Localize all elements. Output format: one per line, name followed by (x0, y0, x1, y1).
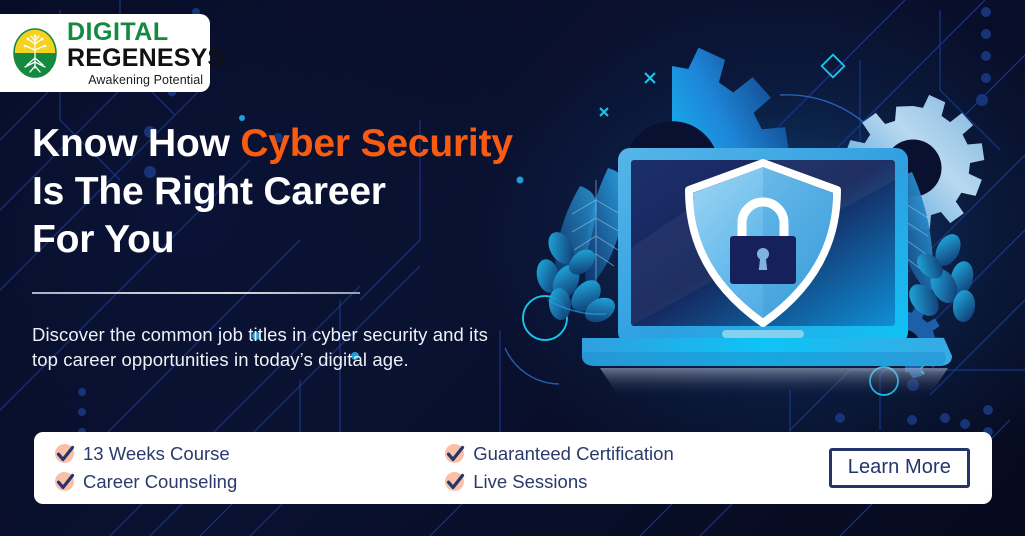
divider (32, 292, 360, 294)
features-card: 13 Weeks Course Guaranteed Certification (34, 432, 992, 504)
headline-line-3: For You (32, 218, 174, 261)
headline-prefix: Know How (32, 122, 240, 165)
cross-marker (600, 73, 924, 374)
logo-line-regenesys: REGENESYS (67, 46, 224, 71)
leaf-decoration (534, 168, 627, 327)
gear-icon-small-bottom (890, 306, 943, 379)
laptop-icon (582, 148, 952, 398)
gear-icon-left (625, 48, 789, 271)
check-icon (444, 443, 466, 465)
padlock-icon (730, 202, 796, 284)
cyber-security-promo-banner: DIGITAL REGENESYS Awakening Potential Kn… (0, 0, 1025, 536)
learn-more-button[interactable]: Learn More (829, 448, 970, 488)
headline-line-1: Know How Cyber Security (32, 122, 513, 165)
logo-tagline: Awakening Potential (67, 74, 224, 87)
logo-line-digital: DIGITAL (67, 20, 224, 45)
logo-wordmark: DIGITAL REGENESYS Awakening Potential (67, 20, 224, 87)
list-item: 13 Weeks Course (54, 440, 392, 468)
headline-line-2: Is The Right Career (32, 170, 386, 213)
headline-accent: Cyber Security (240, 122, 513, 165)
feature-label: 13 Weeks Course (83, 443, 230, 465)
list-item: Guaranteed Certification (444, 440, 829, 468)
leaf-decoration-right (884, 172, 977, 323)
feature-label: Guaranteed Certification (473, 443, 674, 465)
feature-label: Career Counseling (83, 471, 237, 493)
feature-label: Live Sessions (473, 471, 587, 493)
shield-icon (689, 163, 837, 323)
feature-list: 13 Weeks Course Guaranteed Certification (54, 440, 829, 496)
tree-emblem-icon (12, 28, 58, 78)
list-item: Live Sessions (444, 468, 829, 496)
check-icon (54, 471, 76, 493)
subcopy-text: Discover the common job titles in cyber … (32, 322, 492, 372)
page-title: Know How Cyber Security Is The Right Car… (32, 120, 513, 264)
check-icon (54, 443, 76, 465)
check-icon (444, 471, 466, 493)
list-item: Career Counseling (54, 468, 392, 496)
brand-logo[interactable]: DIGITAL REGENESYS Awakening Potential (0, 14, 210, 92)
gear-icon-right (842, 95, 985, 241)
